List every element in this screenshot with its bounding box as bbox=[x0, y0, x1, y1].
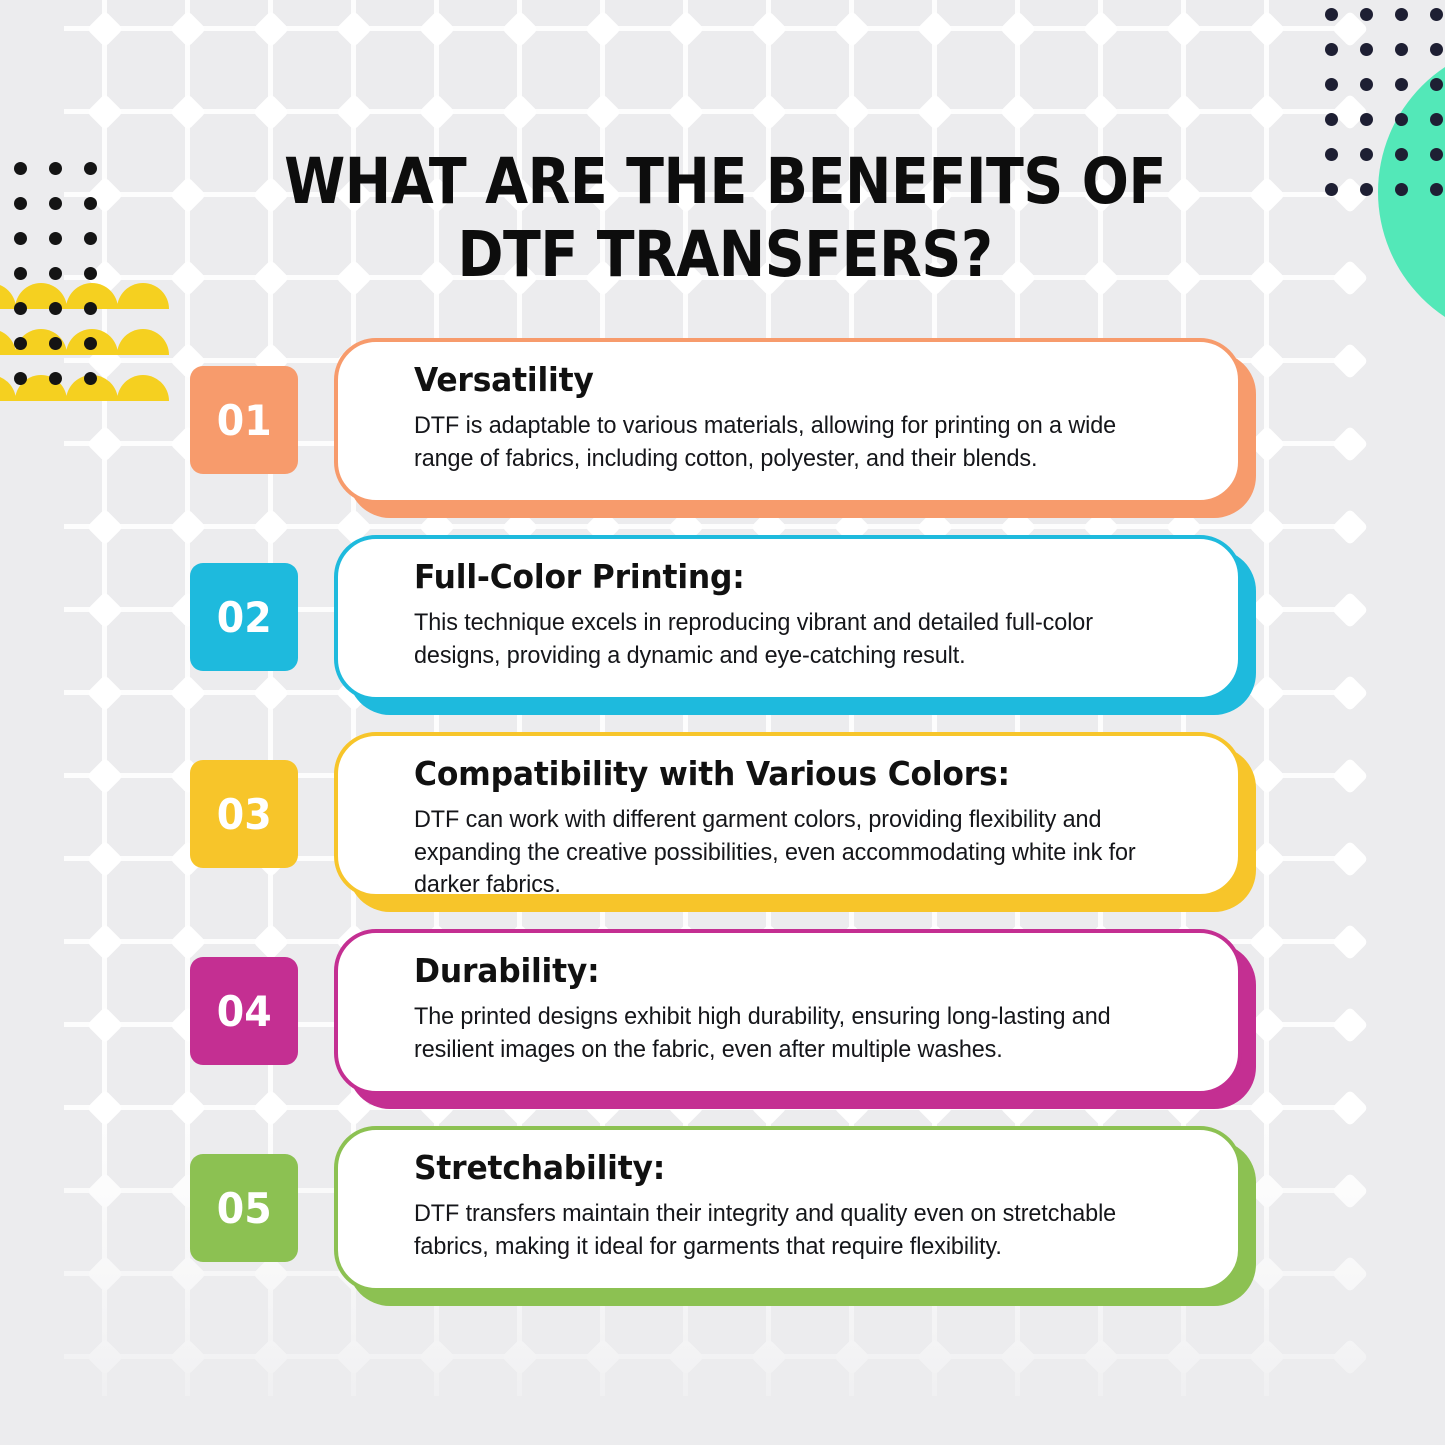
benefit-description: The printed designs exhibit high durabil… bbox=[414, 1001, 1161, 1066]
benefit-row: 01VersatilityDTF is adaptable to various… bbox=[0, 338, 1445, 535]
grid-diamond bbox=[86, 10, 123, 47]
decorative-dot bbox=[1430, 78, 1443, 91]
grid-diamond bbox=[667, 10, 704, 47]
grid-diamond bbox=[833, 1338, 870, 1375]
benefit-card: Durability:The printed designs exhibit h… bbox=[334, 929, 1256, 1109]
decorative-dot bbox=[1360, 43, 1373, 56]
grid-diamond bbox=[501, 1338, 538, 1375]
grid-diamond bbox=[1082, 93, 1119, 130]
decorative-dot bbox=[1360, 8, 1373, 21]
grid-diamond bbox=[252, 10, 289, 47]
grid-diamond bbox=[252, 93, 289, 130]
decorative-dot bbox=[1360, 183, 1373, 196]
benefit-card-body: VersatilityDTF is adaptable to various m… bbox=[334, 338, 1242, 504]
benefit-number-badge: 03 bbox=[190, 760, 298, 868]
grid-diamond bbox=[750, 10, 787, 47]
benefit-description: DTF transfers maintain their integrity a… bbox=[414, 1198, 1161, 1263]
benefit-card-body: Compatibility with Various Colors:DTF ca… bbox=[334, 732, 1242, 898]
grid-diamond bbox=[169, 93, 206, 130]
benefit-row: 05Stretchability:DTF transfers maintain … bbox=[0, 1126, 1445, 1323]
decorative-dot bbox=[1325, 183, 1338, 196]
grid-diamond bbox=[501, 93, 538, 130]
decorative-dot bbox=[84, 197, 97, 210]
grid-diamond bbox=[418, 10, 455, 47]
benefit-row: 04Durability:The printed designs exhibit… bbox=[0, 929, 1445, 1126]
grid-diamond bbox=[335, 93, 372, 130]
grid-diamond bbox=[750, 93, 787, 130]
decorative-dot bbox=[14, 162, 27, 175]
decorative-dot bbox=[49, 232, 62, 245]
infographic-poster: WHAT ARE THE BENEFITS OF DTF TRANSFERS? … bbox=[0, 0, 1445, 1445]
decorative-dot bbox=[1395, 148, 1408, 161]
decorative-dot bbox=[84, 302, 97, 315]
grid-diamond bbox=[833, 93, 870, 130]
benefit-heading: Versatility bbox=[414, 362, 1157, 398]
grid-diamond bbox=[86, 93, 123, 130]
benefit-card-body: Durability:The printed designs exhibit h… bbox=[334, 929, 1242, 1095]
decorative-dot bbox=[1430, 183, 1443, 196]
decorative-dot bbox=[1430, 113, 1443, 126]
decorative-dot bbox=[1325, 148, 1338, 161]
benefit-card: Full-Color Printing:This technique excel… bbox=[334, 535, 1256, 715]
grid-diamond bbox=[169, 1338, 206, 1375]
decorative-dot bbox=[49, 197, 62, 210]
decorative-dot bbox=[1325, 78, 1338, 91]
benefit-number-badge: 04 bbox=[190, 957, 298, 1065]
grid-diamond bbox=[999, 10, 1036, 47]
decorative-dot bbox=[1360, 78, 1373, 91]
grid-diamond bbox=[916, 1338, 953, 1375]
grid-diamond bbox=[501, 10, 538, 47]
benefit-number: 03 bbox=[217, 790, 272, 839]
grid-diamond bbox=[1165, 93, 1202, 130]
grid-diamond bbox=[1248, 1338, 1285, 1375]
grid-diamond bbox=[667, 1338, 704, 1375]
benefit-row: 02Full-Color Printing:This technique exc… bbox=[0, 535, 1445, 732]
grid-diamond bbox=[418, 93, 455, 130]
decorative-dot bbox=[1395, 43, 1408, 56]
benefit-number-badge: 02 bbox=[190, 563, 298, 671]
grid-diamond bbox=[1082, 10, 1119, 47]
benefit-heading: Full-Color Printing: bbox=[414, 559, 1157, 595]
grid-diamond bbox=[169, 10, 206, 47]
benefit-card: Compatibility with Various Colors:DTF ca… bbox=[334, 732, 1256, 912]
benefit-heading: Compatibility with Various Colors: bbox=[414, 756, 1157, 792]
grid-diamond bbox=[584, 93, 621, 130]
decorative-dot bbox=[1430, 43, 1443, 56]
benefit-card: Stretchability:DTF transfers maintain th… bbox=[334, 1126, 1256, 1306]
grid-diamond bbox=[1248, 93, 1285, 130]
benefit-card-body: Stretchability:DTF transfers maintain th… bbox=[334, 1126, 1242, 1292]
decorative-dot bbox=[1395, 78, 1408, 91]
grid-diamond bbox=[1248, 176, 1285, 213]
decorative-dot bbox=[49, 302, 62, 315]
benefit-heading: Durability: bbox=[414, 953, 1157, 989]
decorative-dot bbox=[84, 267, 97, 280]
benefit-card: VersatilityDTF is adaptable to various m… bbox=[334, 338, 1256, 518]
grid-diamond bbox=[335, 10, 372, 47]
decorative-dot bbox=[14, 197, 27, 210]
decorative-dot bbox=[1395, 8, 1408, 21]
decorative-dot bbox=[1395, 113, 1408, 126]
grid-diamond bbox=[1165, 1338, 1202, 1375]
benefit-description: DTF is adaptable to various materials, a… bbox=[414, 410, 1161, 475]
decorative-dot bbox=[14, 267, 27, 280]
benefit-description: This technique excels in reproducing vib… bbox=[414, 607, 1161, 672]
benefit-row: 03Compatibility with Various Colors:DTF … bbox=[0, 732, 1445, 929]
grid-diamond bbox=[584, 1338, 621, 1375]
decorative-dot bbox=[1430, 8, 1443, 21]
decorative-dot bbox=[1395, 183, 1408, 196]
benefit-number-badge: 05 bbox=[190, 1154, 298, 1262]
grid-diamond bbox=[1248, 259, 1285, 296]
grid-diamond bbox=[335, 1338, 372, 1375]
decorative-dot bbox=[1325, 113, 1338, 126]
benefit-number: 04 bbox=[217, 987, 272, 1036]
grid-diamond bbox=[1248, 10, 1285, 47]
decorative-dot bbox=[1360, 113, 1373, 126]
grid-diamond bbox=[1165, 10, 1202, 47]
grid-diamond bbox=[86, 1338, 123, 1375]
decorative-dot bbox=[1360, 148, 1373, 161]
grid-diamond bbox=[169, 176, 206, 213]
decorative-dot bbox=[1325, 43, 1338, 56]
decorative-dot bbox=[1430, 148, 1443, 161]
grid-diamond bbox=[169, 259, 206, 296]
grid-diamond bbox=[584, 10, 621, 47]
benefit-list: 01VersatilityDTF is adaptable to various… bbox=[0, 338, 1445, 1323]
grid-diamond bbox=[252, 1338, 289, 1375]
grid-diamond bbox=[999, 93, 1036, 130]
grid-diamond bbox=[1082, 1338, 1119, 1375]
benefit-number: 01 bbox=[217, 396, 272, 445]
grid-diamond bbox=[999, 1338, 1036, 1375]
grid-diamond bbox=[750, 1338, 787, 1375]
benefit-number: 02 bbox=[217, 593, 272, 642]
benefit-number-badge: 01 bbox=[190, 366, 298, 474]
decorative-dot bbox=[84, 232, 97, 245]
decorative-dot bbox=[49, 267, 62, 280]
grid-diamond bbox=[916, 93, 953, 130]
page-title: WHAT ARE THE BENEFITS OF DTF TRANSFERS? bbox=[219, 145, 1231, 291]
benefit-description: DTF can work with different garment colo… bbox=[414, 804, 1161, 902]
grid-diamond bbox=[667, 93, 704, 130]
grid-diamond bbox=[418, 1338, 455, 1375]
decorative-dot bbox=[84, 162, 97, 175]
benefit-number: 05 bbox=[217, 1184, 272, 1233]
grid-diamond bbox=[916, 10, 953, 47]
grid-diamond bbox=[1331, 1338, 1368, 1375]
benefit-card-body: Full-Color Printing:This technique excel… bbox=[334, 535, 1242, 701]
decorative-dot bbox=[14, 302, 27, 315]
grid-diamond bbox=[833, 10, 870, 47]
decorative-dot bbox=[49, 162, 62, 175]
decorative-dot bbox=[14, 232, 27, 245]
decorative-dot bbox=[1325, 8, 1338, 21]
grid-diamond bbox=[1331, 259, 1368, 296]
benefit-heading: Stretchability: bbox=[414, 1150, 1157, 1186]
